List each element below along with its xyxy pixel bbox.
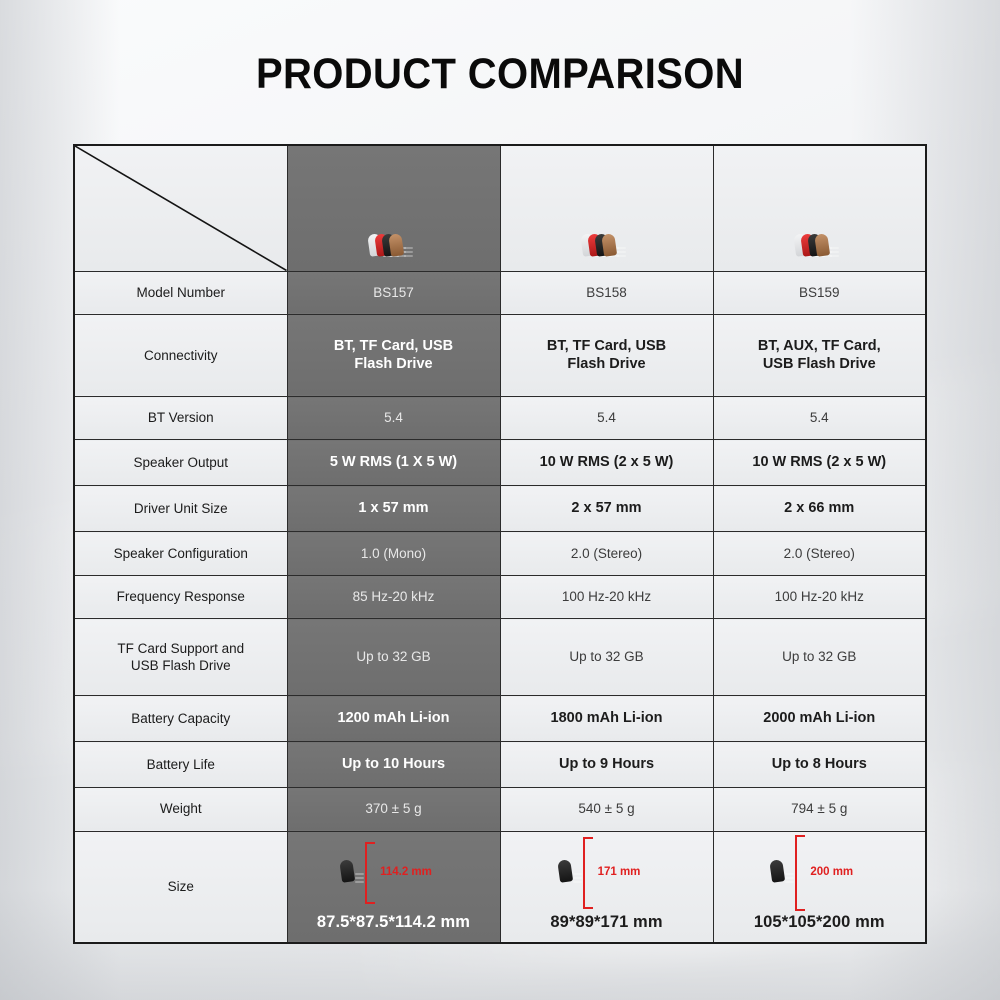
cell-bs158-5: 2.0 (Stereo) [500,532,713,575]
row-label-9: Battery Life [74,742,287,788]
cell-bs157-2: 5.4 [287,397,500,440]
table-row: Weight370 ± 5 g540 ± 5 g794 ± 5 g [74,787,926,831]
cell-bs159-9: Up to 8 Hours [713,742,926,788]
size-cell-inner: 171 mm89*89*171 mm [507,834,707,941]
product-header-bs159 [713,145,926,271]
carry-loop-icon [557,859,573,883]
cell-value: Up to 9 Hours [559,756,654,772]
cell-value: 85 Hz-20 kHz [353,589,435,604]
row-label-10: Weight [74,787,287,831]
cell-bs157-5: 1.0 (Mono) [287,532,500,575]
product-header-bs158 [500,145,713,271]
cell-bs159-7: Up to 32 GB [713,619,926,696]
product-photo-group-bs158 [507,148,707,269]
cell-value: Up to 32 GB [356,649,430,664]
carry-loop-icon [770,859,786,883]
row-label-4: Driver Unit Size [74,486,287,532]
table-row: Speaker Configuration1.0 (Mono)2.0 (Ster… [74,532,926,575]
cell-bs159-6: 100 Hz-20 kHz [713,575,926,618]
cell-value: 2.0 (Stereo) [784,546,855,561]
cell-value: 5.4 [810,410,829,425]
size-caption: 87.5*87.5*114.2 mm [317,912,470,933]
product-header-bs157 [287,145,500,271]
cell-value: 5.4 [384,410,403,425]
cell-value: BT, TF Card, USBFlash Drive [547,338,666,373]
table-row: Battery LifeUp to 10 HoursUp to 9 HoursU… [74,742,926,788]
bracket-bar [795,835,805,911]
cell-value: 10 W RMS (2 x 5 W) [540,454,674,470]
product-photo-group-bs159 [720,148,920,269]
dimension-label: 171 mm [598,865,641,880]
carry-loop-icon [339,859,355,883]
table-row: Model NumberBS157BS158BS159 [74,271,926,314]
cell-bs157-10: 370 ± 5 g [287,787,500,831]
carry-loop-icon [601,233,617,257]
bracket-bar [365,842,375,904]
dimension-label: 114.2 mm [380,865,432,880]
corner-diagonal-line [75,146,287,271]
row-label-3: Speaker Output [74,440,287,486]
cell-bs158-1: BT, TF Card, USBFlash Drive [500,314,713,396]
cell-bs157-3: 5 W RMS (1 X 5 W) [287,440,500,486]
cell-value: 2000 mAh Li-ion [763,710,875,726]
cell-value: 2.0 (Stereo) [571,546,642,561]
cell-bs158-7: Up to 32 GB [500,619,713,696]
row-label-6: Frequency Response [74,575,287,618]
cell-value: BS159 [799,285,840,300]
row-label-2: BT Version [74,397,287,440]
cell-bs157-0: BS157 [287,271,500,314]
cell-bs157-8: 1200 mAh Li-ion [287,696,500,742]
cell-value: 1200 mAh Li-ion [338,710,450,726]
cell-bs158-4: 2 x 57 mm [500,486,713,532]
table-row-size: Size114.2 mm87.5*87.5*114.2 mm171 mm89*8… [74,831,926,943]
cell-bs159-10: 794 ± 5 g [713,787,926,831]
cell-value: 5 W RMS (1 X 5 W) [330,454,457,470]
cell-value: 370 ± 5 g [365,801,421,816]
carry-loop-icon [814,233,830,257]
size-cell-bs157: 114.2 mm87.5*87.5*114.2 mm [287,831,500,943]
cell-value: Up to 8 Hours [772,756,867,772]
cell-value: 540 ± 5 g [578,801,634,816]
size-cell-bs158: 171 mm89*89*171 mm [500,831,713,943]
cell-value: Up to 32 GB [569,649,643,664]
cell-value: Up to 10 Hours [342,756,445,772]
cell-value: 1 x 57 mm [358,500,428,516]
cell-bs159-2: 5.4 [713,397,926,440]
cell-bs159-1: BT, AUX, TF Card,USB Flash Drive [713,314,926,396]
cell-value: 2 x 66 mm [784,500,854,516]
size-caption: 89*89*171 mm [550,912,662,933]
row-label-5: Speaker Configuration [74,532,287,575]
size-stage: 171 mm [507,834,707,912]
cell-value: BT, AUX, TF Card,USB Flash Drive [758,338,881,373]
product-photo-group-bs157 [294,148,494,269]
cell-bs158-8: 1800 mAh Li-ion [500,696,713,742]
page-title: PRODUCT COMPARISON [35,50,965,99]
carry-loop-icon [388,233,404,257]
cell-bs159-8: 2000 mAh Li-ion [713,696,926,742]
dimension-bracket: 200 mm [795,835,853,911]
row-label-1: Connectivity [74,314,287,396]
cell-bs158-6: 100 Hz-20 kHz [500,575,713,618]
cell-bs157-6: 85 Hz-20 kHz [287,575,500,618]
cell-bs158-3: 10 W RMS (2 x 5 W) [500,440,713,486]
cell-value: 10 W RMS (2 x 5 W) [752,454,886,470]
cell-bs159-3: 10 W RMS (2 x 5 W) [713,440,926,486]
size-stage: 114.2 mm [294,834,494,912]
cell-bs158-0: BS158 [500,271,713,314]
cell-value: 100 Hz-20 kHz [562,589,651,604]
size-stage: 200 mm [720,834,920,912]
cell-bs159-5: 2.0 (Stereo) [713,532,926,575]
cell-bs157-7: Up to 32 GB [287,619,500,696]
cell-value: 2 x 57 mm [571,500,641,516]
row-label-0: Model Number [74,271,287,314]
table-row: BT Version5.45.45.4 [74,397,926,440]
cell-value: Up to 32 GB [782,649,856,664]
dimension-label: 200 mm [810,865,853,880]
dimension-bracket: 114.2 mm [365,842,432,904]
cell-bs158-2: 5.4 [500,397,713,440]
cell-value: BS158 [586,285,627,300]
table-header-row [74,145,926,271]
cell-bs157-9: Up to 10 Hours [287,742,500,788]
bracket-bar [583,837,593,909]
table-row: TF Card Support andUSB Flash DriveUp to … [74,619,926,696]
cell-bs158-9: Up to 9 Hours [500,742,713,788]
cell-value: 5.4 [597,410,616,425]
size-cell-inner: 200 mm105*105*200 mm [720,834,920,941]
cell-bs157-1: BT, TF Card, USBFlash Drive [287,314,500,396]
cell-bs159-4: 2 x 66 mm [713,486,926,532]
table-row: Speaker Output5 W RMS (1 X 5 W)10 W RMS … [74,440,926,486]
cell-value: 794 ± 5 g [791,801,847,816]
size-cell-bs159: 200 mm105*105*200 mm [713,831,926,943]
row-label-7: TF Card Support andUSB Flash Drive [74,619,287,696]
row-label-8: Battery Capacity [74,696,287,742]
table-row: ConnectivityBT, TF Card, USBFlash DriveB… [74,314,926,396]
cell-value: BS157 [373,285,414,300]
cell-value: 1.0 (Mono) [361,546,426,561]
cell-value: BT, TF Card, USBFlash Drive [334,338,453,373]
size-cell-inner: 114.2 mm87.5*87.5*114.2 mm [294,834,494,941]
cell-bs159-0: BS159 [713,271,926,314]
size-caption: 105*105*200 mm [754,912,885,933]
cell-value: 100 Hz-20 kHz [775,589,864,604]
table-row: Battery Capacity1200 mAh Li-ion1800 mAh … [74,696,926,742]
cell-bs157-4: 1 x 57 mm [287,486,500,532]
cell-bs158-10: 540 ± 5 g [500,787,713,831]
corner-cell [74,145,287,271]
cell-value: 1800 mAh Li-ion [551,710,663,726]
table-row: Frequency Response85 Hz-20 kHz100 Hz-20 … [74,575,926,618]
table-row: Driver Unit Size1 x 57 mm2 x 57 mm2 x 66… [74,486,926,532]
row-label-size: Size [74,831,287,943]
dimension-bracket: 171 mm [583,837,641,909]
product-comparison-table: Model NumberBS157BS158BS159ConnectivityB… [73,144,927,944]
